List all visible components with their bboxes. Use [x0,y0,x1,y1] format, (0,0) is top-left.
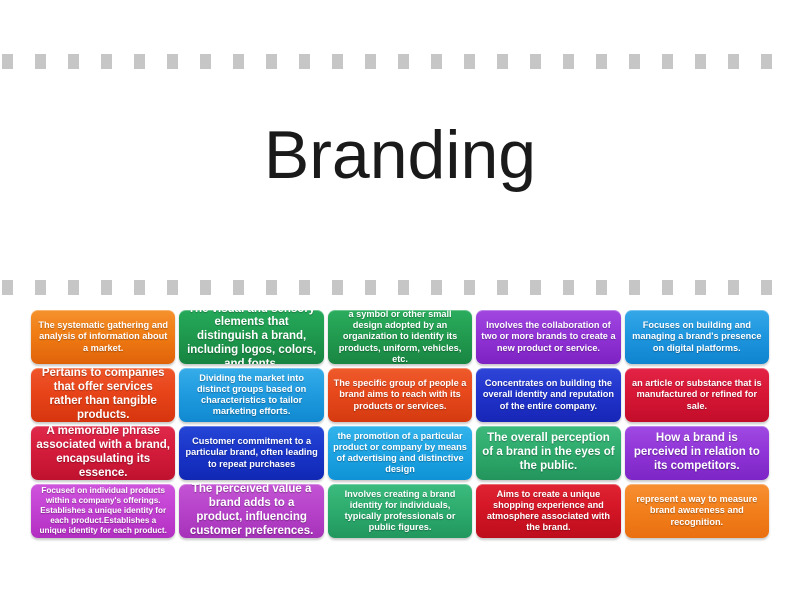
card-row: The systematic gathering and analysis of… [31,310,769,364]
answer-card[interactable]: represent a way to measure brand awarene… [625,484,769,538]
dash-mark [2,54,13,69]
answer-card-text: Focuses on building and managing a brand… [630,320,764,353]
dash-mark [629,280,640,295]
answer-card[interactable]: The overall perception of a brand in the… [476,426,620,480]
activity-canvas: Branding The systematic gathering and an… [0,0,800,600]
dash-mark [266,280,277,295]
dash-mark [101,54,112,69]
dash-mark [365,54,376,69]
dash-mark [596,280,607,295]
dashed-separator-top [0,53,800,69]
dash-mark [563,54,574,69]
answer-card[interactable]: the promotion of a particular product or… [328,426,472,480]
answer-card[interactable]: A memorable phrase associated with a bra… [31,426,175,480]
answer-card[interactable]: The visual and sensory elements that dis… [179,310,323,364]
answer-card-text: an article or substance that is manufact… [630,378,764,411]
dash-mark [695,54,706,69]
answer-card-text: Focused on individual products within a … [36,486,170,536]
dash-mark [68,280,79,295]
answer-card[interactable]: Aims to create a unique shopping experie… [476,484,620,538]
dash-mark [761,280,772,295]
answer-card[interactable]: Dividing the market into distinct groups… [179,368,323,422]
dash-mark [728,280,739,295]
answer-card-text: Concentrates on building the overall ide… [481,378,615,411]
dash-mark [68,54,79,69]
dash-mark [101,280,112,295]
dash-mark [200,54,211,69]
dash-mark [167,280,178,295]
dash-mark [299,280,310,295]
card-row: A memorable phrase associated with a bra… [31,426,769,480]
dash-mark [761,54,772,69]
answer-card-text: The specific group of people a brand aim… [333,378,467,411]
answer-card-text: Customer commitment to a particular bran… [184,436,318,469]
page-title: Branding [0,118,800,193]
card-row: Focused on individual products within a … [31,484,769,538]
answer-card-text: Involves creating a brand identity for i… [333,489,467,533]
dash-mark [200,280,211,295]
dash-mark [398,54,409,69]
answer-card[interactable]: Involves creating a brand identity for i… [328,484,472,538]
dash-mark [530,280,541,295]
dash-mark [728,54,739,69]
dash-mark [365,280,376,295]
dash-mark [167,54,178,69]
dash-mark [464,54,475,69]
answer-card[interactable]: Involves the collaboration of two or mor… [476,310,620,364]
answer-card-text: represent a way to measure brand awarene… [630,494,764,527]
dash-mark [596,54,607,69]
answer-card-text: Dividing the market into distinct groups… [184,373,318,417]
dash-mark [431,54,442,69]
dash-mark [332,280,343,295]
answer-card-text: a symbol or other small design adopted b… [333,310,467,364]
answer-card-text: The visual and sensory elements that dis… [184,310,318,364]
dash-mark [497,54,508,69]
dash-mark [497,280,508,295]
dash-mark [530,54,541,69]
card-row: Pertains to companies that offer service… [31,368,769,422]
dash-mark [662,54,673,69]
answer-card-text: Pertains to companies that offer service… [36,368,170,422]
dash-mark [266,54,277,69]
answer-card[interactable]: Customer commitment to a particular bran… [179,426,323,480]
answer-card-text: A memorable phrase associated with a bra… [36,426,170,480]
dash-mark [629,54,640,69]
answer-card[interactable]: Focuses on building and managing a brand… [625,310,769,364]
dash-mark [662,280,673,295]
answer-card[interactable]: The specific group of people a brand aim… [328,368,472,422]
dash-mark [35,54,46,69]
answer-card-text: Involves the collaboration of two or mor… [481,320,615,353]
answer-card-text: How a brand is perceived in relation to … [630,432,764,473]
answer-card[interactable]: Focused on individual products within a … [31,484,175,538]
card-grid: The systematic gathering and analysis of… [31,310,769,538]
dash-mark [233,54,244,69]
dashed-separator-middle [0,279,800,295]
dash-mark [35,280,46,295]
dash-mark [398,280,409,295]
answer-card-text: the promotion of a particular product or… [333,431,467,475]
dash-mark [332,54,343,69]
dash-mark [695,280,706,295]
answer-card[interactable]: Concentrates on building the overall ide… [476,368,620,422]
answer-card-text: The systematic gathering and analysis of… [36,320,170,353]
answer-card[interactable]: How a brand is perceived in relation to … [625,426,769,480]
dash-mark [134,54,145,69]
dash-mark [464,280,475,295]
answer-card[interactable]: The systematic gathering and analysis of… [31,310,175,364]
dash-mark [2,280,13,295]
dash-mark [563,280,574,295]
answer-card-text: Aims to create a unique shopping experie… [481,489,615,533]
dash-mark [299,54,310,69]
dash-mark [134,280,145,295]
answer-card-text: The overall perception of a brand in the… [481,432,615,473]
answer-card-text: The perceived value a brand adds to a pr… [184,484,318,538]
answer-card[interactable]: The perceived value a brand adds to a pr… [179,484,323,538]
dash-mark [233,280,244,295]
answer-card[interactable]: a symbol or other small design adopted b… [328,310,472,364]
answer-card[interactable]: an article or substance that is manufact… [625,368,769,422]
answer-card[interactable]: Pertains to companies that offer service… [31,368,175,422]
dash-mark [431,280,442,295]
